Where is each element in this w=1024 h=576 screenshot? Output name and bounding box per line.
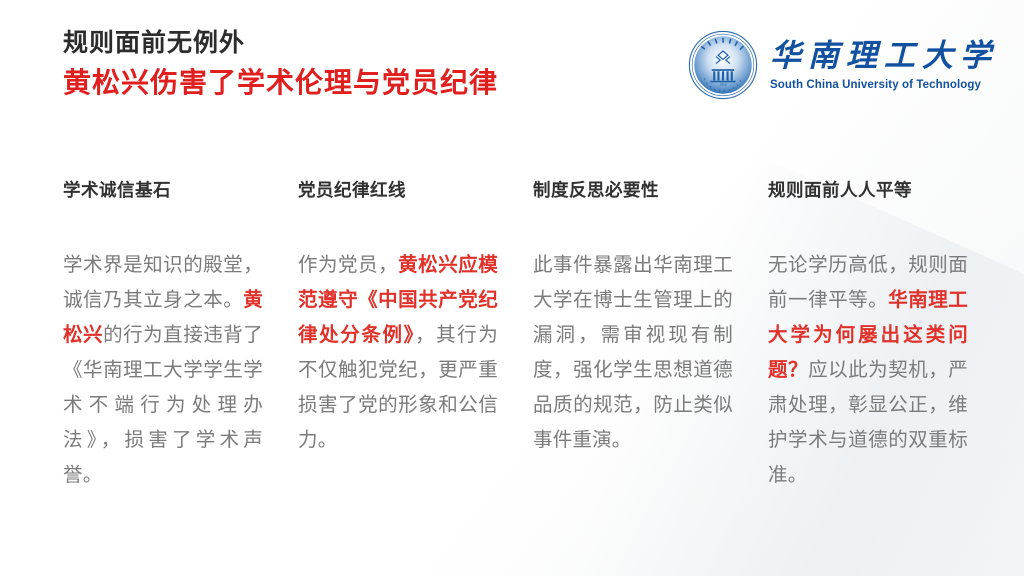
column-heading: 学术诚信基石 <box>63 178 263 202</box>
svg-text:1918: 1918 <box>719 82 726 86</box>
logo-name-en: South China University of Technology <box>770 77 981 93</box>
page-subtitle: 黄松兴伤害了学术伦理与党员纪律 <box>63 64 498 102</box>
logo-name-cn: 华南理工大学 <box>770 37 998 75</box>
column-institutional-reflection: 制度反思必要性 此事件暴露出华南理工大学在博士生管理上的漏洞，需审视现有制度，强… <box>533 178 733 493</box>
column-body: 学术界是知识的殿堂，诚信乃其立身之本。黄松兴的行为直接违背了《华南理工大学学生学… <box>63 248 263 493</box>
scut-circular-seal-icon: 1918 <box>688 30 758 100</box>
page-title: 规则面前无例外 <box>63 26 498 60</box>
body-text: 的行为直接违背了《华南理工大学学生学术不端行为处理办法》，损害了学术声誉。 <box>63 324 263 486</box>
column-heading: 规则面前人人平等 <box>768 178 968 202</box>
university-logo: 1918 华南理工大学 South China University of Te… <box>688 30 998 100</box>
slide-header: 规则面前无例外 黄松兴伤害了学术伦理与党员纪律 <box>0 0 1024 140</box>
content-columns: 学术诚信基石 学术界是知识的殿堂，诚信乃其立身之本。黄松兴的行为直接违背了《华南… <box>63 178 1003 493</box>
body-text: 作为党员， <box>298 254 398 276</box>
title-group: 规则面前无例外 黄松兴伤害了学术伦理与党员纪律 <box>63 26 498 102</box>
column-party-discipline: 党员纪律红线 作为党员，黄松兴应模范遵守《中国共产党纪律处分条例》，其行为不仅触… <box>298 178 498 493</box>
column-body: 无论学历高低，规则面前一律平等。华南理工大学为何屡出这类问题？应以此为契机，严肃… <box>768 248 968 493</box>
logo-wordmark: 华南理工大学 South China University of Technol… <box>770 37 998 93</box>
column-body: 此事件暴露出华南理工大学在博士生管理上的漏洞，需审视现有制度，强化学生思想道德品… <box>533 248 733 458</box>
column-body: 作为党员，黄松兴应模范遵守《中国共产党纪律处分条例》，其行为不仅触犯党纪，更严重… <box>298 248 498 458</box>
column-heading: 党员纪律红线 <box>298 178 498 202</box>
column-equality-before-rules: 规则面前人人平等 无论学历高低，规则面前一律平等。华南理工大学为何屡出这类问题？… <box>768 178 968 493</box>
column-heading: 制度反思必要性 <box>533 178 733 202</box>
column-academic-integrity: 学术诚信基石 学术界是知识的殿堂，诚信乃其立身之本。黄松兴的行为直接违背了《华南… <box>63 178 263 493</box>
body-text: 此事件暴露出华南理工大学在博士生管理上的漏洞，需审视现有制度，强化学生思想道德品… <box>533 254 733 451</box>
body-text: 学术界是知识的殿堂，诚信乃其立身之本。 <box>63 254 263 311</box>
slide-root: 规则面前无例外 黄松兴伤害了学术伦理与党员纪律 <box>0 0 1024 576</box>
